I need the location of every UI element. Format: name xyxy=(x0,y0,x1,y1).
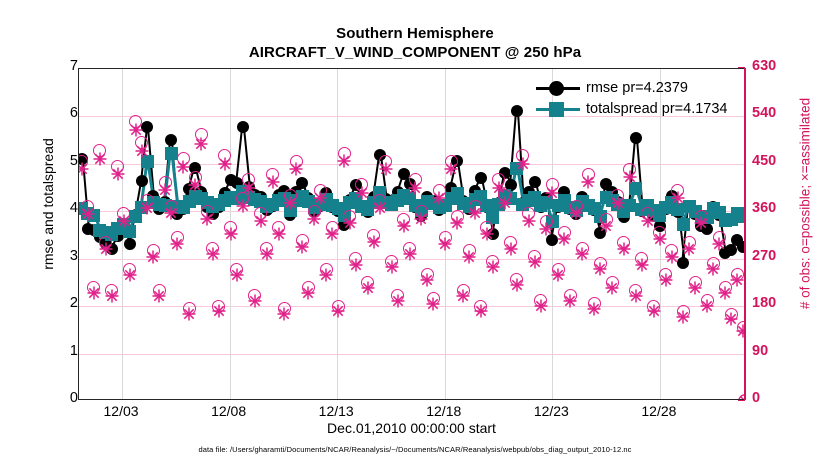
legend: rmse pr=4.2379 totalspread pr=4.1734 xyxy=(536,78,742,120)
chart-title-line2: AIRCRAFT_V_WIND_COMPONENT @ 250 hPa xyxy=(0,43,830,63)
obs-assimilated-marker-icon xyxy=(629,289,643,308)
obs-assimilated-marker-icon xyxy=(545,186,559,205)
x-tick-label: 12/13 xyxy=(296,403,376,419)
obs-assimilated-marker-icon xyxy=(563,294,577,313)
obs-assimilated-marker-icon xyxy=(432,191,446,210)
obs-assimilated-marker-icon xyxy=(468,206,482,225)
obs-assimilated-marker-icon xyxy=(587,302,601,321)
obs-assimilated-marker-icon xyxy=(438,237,452,256)
obs-assimilated-marker-icon xyxy=(671,191,685,210)
gridline-horizontal xyxy=(79,354,744,355)
obs-assimilated-marker-icon xyxy=(301,286,315,305)
obs-assimilated-marker-icon xyxy=(480,227,494,246)
obs-assimilated-marker-icon xyxy=(307,212,321,231)
obs-assimilated-marker-icon xyxy=(462,250,476,269)
obs-assimilated-marker-icon xyxy=(87,286,101,305)
obs-assimilated-marker-icon xyxy=(79,162,89,181)
obs-assimilated-marker-icon xyxy=(420,273,434,292)
obs-assimilated-marker-icon xyxy=(385,260,399,279)
obs-assimilated-marker-icon xyxy=(414,212,428,231)
obs-assimilated-marker-icon xyxy=(295,240,309,259)
x-tick-label: 12/23 xyxy=(511,403,591,419)
obs-assimilated-marker-icon xyxy=(397,219,411,238)
obs-assimilated-marker-icon xyxy=(212,304,226,323)
data-point-totalspread xyxy=(737,210,744,223)
obs-assimilated-marker-icon xyxy=(557,232,571,251)
data-point-totalspread xyxy=(677,218,690,231)
data-point-rmse xyxy=(141,121,153,133)
obs-assimilated-marker-icon xyxy=(361,281,375,300)
obs-assimilated-marker-icon xyxy=(653,232,667,251)
obs-assimilated-marker-icon xyxy=(272,227,286,246)
obs-assimilated-marker-icon xyxy=(105,289,119,308)
chart-title-line1: Southern Hemisphere xyxy=(0,24,830,43)
obs-assimilated-marker-icon xyxy=(623,170,637,189)
obs-assimilated-marker-icon xyxy=(260,247,274,266)
legend-label-rmse: rmse pr=4.2379 xyxy=(586,78,688,98)
obs-assimilated-marker-icon xyxy=(129,123,143,142)
data-point-rmse xyxy=(529,176,541,188)
obs-assimilated-marker-icon xyxy=(676,310,690,329)
data-point-rmse xyxy=(237,121,249,133)
chart-title-block: Southern Hemisphere AIRCRAFT_V_WIND_COMP… xyxy=(0,24,830,63)
obs-assimilated-marker-icon xyxy=(593,262,607,281)
obs-assimilated-marker-icon xyxy=(575,247,589,266)
obs-assimilated-marker-icon xyxy=(230,268,244,287)
y-tick-label-right: 270 xyxy=(752,248,812,264)
obs-assimilated-marker-icon xyxy=(146,250,160,269)
x-tick-label: 12/08 xyxy=(189,403,269,419)
obs-assimilated-marker-icon xyxy=(498,196,512,215)
y-tick-label-right: 360 xyxy=(752,200,812,216)
obs-assimilated-marker-icon xyxy=(373,201,387,220)
series-line-rmse xyxy=(235,128,243,184)
gridline-horizontal xyxy=(79,306,744,307)
y-tick-label-right: 540 xyxy=(752,105,812,121)
obs-assimilated-marker-icon xyxy=(343,216,357,235)
obs-assimilated-marker-icon xyxy=(283,196,297,215)
x-tick-label: 12/18 xyxy=(404,403,484,419)
obs-assimilated-marker-icon xyxy=(277,307,291,326)
obs-assimilated-marker-icon xyxy=(349,258,363,277)
obs-assimilated-marker-icon xyxy=(510,278,524,297)
obs-assimilated-marker-icon xyxy=(248,294,262,313)
obs-assimilated-marker-icon xyxy=(408,181,422,200)
obs-assimilated-marker-icon xyxy=(123,268,137,287)
obs-assimilated-marker-icon xyxy=(403,247,417,266)
obs-assimilated-marker-icon xyxy=(206,247,220,266)
data-file-footer: data file: /Users/gharamti/Documents/NCA… xyxy=(0,445,830,454)
y-tick-label-right: 450 xyxy=(752,153,812,169)
x-axis-label: Dec.01,2010 00:00:00 start xyxy=(78,420,745,436)
obs-assimilated-marker-icon xyxy=(218,157,232,176)
obs-assimilated-marker-icon xyxy=(266,175,280,194)
y-tick-label-right: 0 xyxy=(752,390,812,406)
obs-assimilated-marker-icon xyxy=(611,196,625,215)
y-tick-label-left: 7 xyxy=(38,58,78,74)
obs-assimilated-marker-icon xyxy=(539,222,553,241)
x-tick-label: 12/28 xyxy=(619,403,699,419)
data-point-rmse xyxy=(511,105,523,117)
data-point-totalspread xyxy=(165,147,178,160)
obs-assimilated-marker-icon xyxy=(700,299,714,318)
obs-assimilated-marker-icon xyxy=(355,186,369,205)
obs-assimilated-marker-icon xyxy=(337,154,351,173)
obs-assimilated-marker-icon xyxy=(81,207,95,226)
data-point-rmse xyxy=(737,241,744,253)
obs-assimilated-marker-icon xyxy=(581,175,595,194)
obs-assimilated-marker-icon xyxy=(635,258,649,277)
data-point-rmse xyxy=(475,172,487,184)
obs-assimilated-marker-icon xyxy=(182,307,196,326)
y-tick-label-left: 3 xyxy=(38,248,78,264)
obs-assimilated-marker-icon xyxy=(331,304,345,323)
obs-assimilated-marker-icon xyxy=(319,268,333,287)
right-axis-spine xyxy=(744,68,746,400)
obs-assimilated-marker-icon xyxy=(730,273,744,292)
obs-assimilated-marker-icon xyxy=(367,235,381,254)
obs-assimilated-marker-icon xyxy=(200,212,214,231)
x-tick-label: 12/03 xyxy=(81,403,161,419)
obs-assimilated-marker-icon xyxy=(617,242,631,261)
obs-assimilated-marker-icon xyxy=(224,227,238,246)
data-point-rmse xyxy=(136,175,148,187)
obs-assimilated-marker-icon xyxy=(379,162,393,181)
obs-assimilated-marker-icon xyxy=(736,324,744,343)
obs-assimilated-marker-icon xyxy=(313,191,327,210)
figure-canvas: Southern Hemisphere AIRCRAFT_V_WIND_COMP… xyxy=(0,0,830,470)
y-tick-label-right: 630 xyxy=(752,58,812,74)
obs-assimilated-marker-icon xyxy=(99,242,113,261)
obs-assimilated-marker-icon xyxy=(194,137,208,156)
obs-assimilated-marker-icon xyxy=(289,162,303,181)
obs-assimilated-marker-icon xyxy=(522,214,536,233)
obs-assimilated-marker-icon xyxy=(551,268,565,287)
obs-assimilated-marker-icon xyxy=(93,152,107,171)
obs-assimilated-marker-icon xyxy=(170,237,184,256)
y-tick-label-left: 5 xyxy=(38,153,78,169)
obs-assimilated-marker-icon xyxy=(426,297,440,316)
obs-assimilated-marker-icon xyxy=(641,214,655,233)
y-tick-label-left: 0 xyxy=(38,390,78,406)
obs-assimilated-marker-icon xyxy=(242,181,256,200)
obs-assimilated-marker-icon xyxy=(158,183,172,202)
obs-assimilated-marker-icon xyxy=(712,237,726,256)
obs-assimilated-marker-icon xyxy=(164,206,178,225)
obs-assimilated-marker-icon xyxy=(474,304,488,323)
data-point-rmse xyxy=(725,244,737,256)
obs-assimilated-marker-icon xyxy=(391,294,405,313)
obs-assimilated-marker-icon xyxy=(665,250,679,269)
y-tick-label-right: 180 xyxy=(752,295,812,311)
obs-assimilated-marker-icon xyxy=(236,199,250,218)
obs-assimilated-marker-icon xyxy=(694,216,708,235)
obs-assimilated-marker-icon xyxy=(534,299,548,318)
data-point-rmse xyxy=(165,134,177,146)
obs-assimilated-marker-icon xyxy=(569,206,583,225)
obs-assimilated-marker-icon xyxy=(504,242,518,261)
obs-assimilated-marker-icon xyxy=(486,260,500,279)
obs-assimilated-marker-icon xyxy=(444,162,458,181)
obs-assimilated-marker-icon xyxy=(152,289,166,308)
obs-assimilated-marker-icon xyxy=(140,201,154,220)
legend-marker-square-icon xyxy=(549,102,564,117)
obs-assimilated-marker-icon xyxy=(135,144,149,163)
obs-assimilated-marker-icon xyxy=(682,242,696,261)
legend-marker-circle-icon xyxy=(549,81,564,96)
data-point-rmse xyxy=(630,132,642,144)
y-tick-label-right: 90 xyxy=(752,343,812,359)
obs-assimilated-marker-icon xyxy=(659,273,673,292)
obs-assimilated-marker-icon xyxy=(176,160,190,179)
obs-assimilated-marker-icon xyxy=(528,255,542,274)
data-point-rmse xyxy=(124,238,136,250)
obs-assimilated-marker-icon xyxy=(599,219,613,238)
obs-assimilated-marker-icon xyxy=(450,216,464,235)
obs-assimilated-marker-icon xyxy=(516,157,530,176)
obs-assimilated-marker-icon xyxy=(706,262,720,281)
obs-assimilated-marker-icon xyxy=(688,281,702,300)
obs-assimilated-marker-icon xyxy=(117,214,131,233)
obs-assimilated-marker-icon xyxy=(188,178,202,197)
y-tick-label-left: 6 xyxy=(38,105,78,121)
y-tick-label-left: 1 xyxy=(38,343,78,359)
obs-assimilated-marker-icon xyxy=(647,304,661,323)
obs-assimilated-marker-icon xyxy=(254,214,268,233)
obs-assimilated-marker-icon xyxy=(111,167,125,186)
legend-label-totalspread: totalspread pr=4.1734 xyxy=(586,99,727,119)
obs-assimilated-marker-icon xyxy=(456,289,470,308)
y-tick-label-left: 2 xyxy=(38,295,78,311)
obs-assimilated-marker-icon xyxy=(605,281,619,300)
y-tick-label-left: 4 xyxy=(38,200,78,216)
obs-assimilated-marker-icon xyxy=(325,227,339,246)
